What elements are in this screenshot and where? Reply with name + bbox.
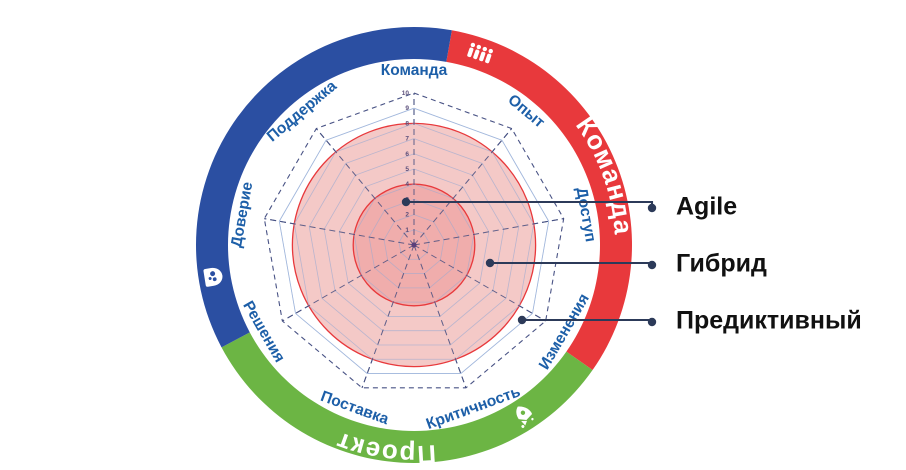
radial-tick-10: 10	[402, 90, 410, 97]
legend-anchor-dot-0	[402, 198, 410, 206]
radar-center-point	[411, 242, 416, 247]
radial-tick-6: 6	[405, 151, 409, 158]
legend-end-dot-2	[648, 318, 656, 326]
legend-anchor-dot-2	[518, 316, 526, 324]
radial-tick-1: 1	[405, 227, 409, 234]
radial-tick-8: 8	[405, 120, 409, 127]
legend-label-0: Agile	[676, 193, 737, 221]
radial-tick-7: 7	[405, 136, 409, 143]
infographic-root: КомандаПроектКультура 12345678910 Команд…	[0, 0, 906, 470]
legend-anchor-dot-1	[486, 259, 494, 267]
legend-end-dot-1	[648, 261, 656, 269]
radial-tick-4: 4	[405, 181, 409, 188]
radial-tick-5: 5	[405, 166, 409, 173]
legend-end-dot-0	[648, 204, 656, 212]
legend-label-2: Предиктивный	[676, 307, 862, 335]
radial-tick-2: 2	[405, 212, 409, 219]
legend-label-1: Гибрид	[676, 250, 767, 278]
radar-axis-label-0: Команда	[381, 62, 448, 79]
radial-tick-9: 9	[405, 105, 409, 112]
radar-wheel-figure: КомандаПроектКультура 12345678910 Команд…	[0, 0, 906, 470]
